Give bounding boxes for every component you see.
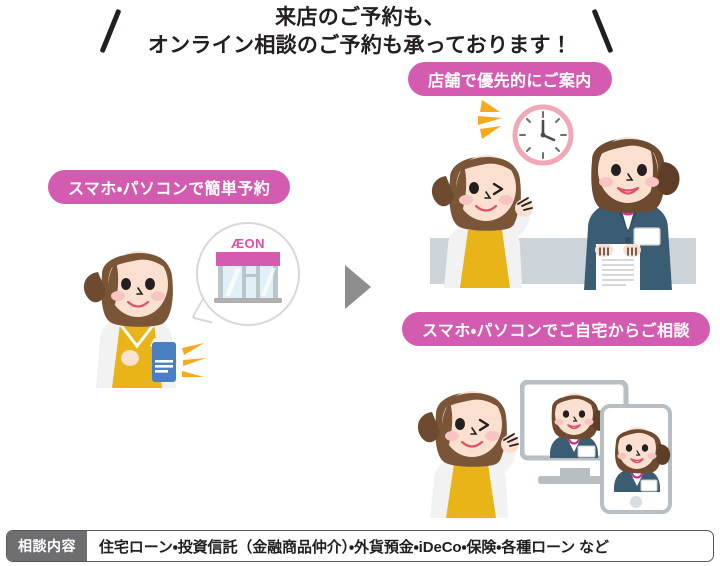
aeon-wordmark: ÆON xyxy=(215,236,281,251)
headline-line-2: オンライン相談のご予約も承っております！ xyxy=(0,32,720,60)
illustration-customer-online xyxy=(404,368,534,518)
illustration-customer-at-counter xyxy=(418,128,548,288)
consultation-topics-label: 相談内容 xyxy=(7,531,87,561)
infographic-canvas: 来店のご予約も、 オンライン相談のご予約も承っております！ 店舗で優先的にご案内… xyxy=(0,0,720,566)
badge-online-home: スマホ・パソコンでご自宅からご相談 xyxy=(402,312,710,346)
headline: 来店のご予約も、 オンライン相談のご予約も承っております！ xyxy=(0,4,720,59)
flow-arrow-icon xyxy=(345,265,371,309)
smartphone-video-call xyxy=(600,404,674,514)
consultation-topics-list: 住宅ローン・投資信託（金融商品仲介）・外貨預金・iDeCo・保険・各種ローン な… xyxy=(87,531,713,561)
document-on-counter-icon xyxy=(592,244,644,292)
badge-easy-reservation: スマホ・パソコンで簡単予約 xyxy=(48,170,290,204)
consultation-topics-bar: 相談内容 住宅ローン・投資信託（金融商品仲介）・外貨預金・iDeCo・保険・各種… xyxy=(6,530,714,562)
badge-priority-store: 店舗で優先的にご案内 xyxy=(408,62,612,96)
aeon-storefront-icon xyxy=(212,244,284,308)
headline-line-1: 来店のご予約も、 xyxy=(0,4,720,32)
smartphone-icon xyxy=(148,340,208,394)
